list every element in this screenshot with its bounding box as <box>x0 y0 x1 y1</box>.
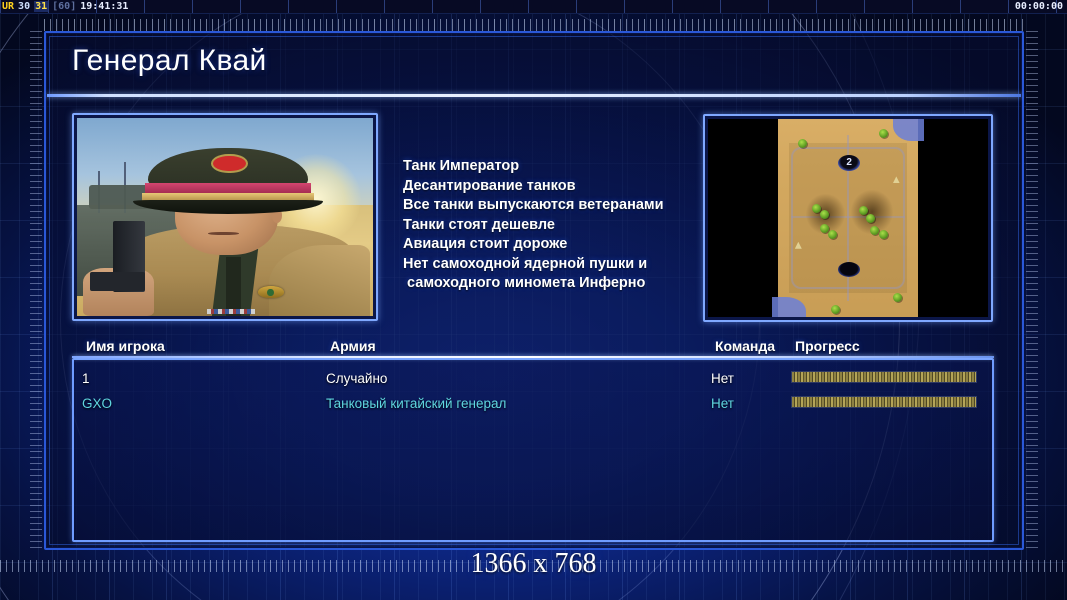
description-line: Нет самоходной ядерной пушки и <box>403 255 664 275</box>
player-name: GXO <box>82 391 112 416</box>
column-header-progress: Прогресс <box>795 338 860 354</box>
description-line: Все танки выпускаются ветеранами <box>403 196 664 216</box>
map-tree-icon <box>798 139 807 148</box>
map-tree-icon <box>893 293 902 302</box>
status-value-c: [60] <box>52 1 76 12</box>
column-header-team: Команда <box>715 338 775 354</box>
portrait-mouth <box>208 232 239 235</box>
player-name: 1 <box>82 366 90 391</box>
players-table-header-divider <box>72 356 994 358</box>
column-header-name: Имя игрока <box>86 338 165 354</box>
portrait-pistol <box>113 221 146 292</box>
portrait-wing-badge <box>258 286 284 298</box>
description-line: Танк Император <box>403 157 664 177</box>
player-progress-bar <box>791 371 977 383</box>
portrait-cap-star-icon <box>213 156 246 172</box>
general-description-list: Танк Император Десантирование танков Все… <box>403 157 664 294</box>
title-divider <box>47 94 1021 97</box>
map-tree-icon <box>879 129 888 138</box>
status-value-b: 31 <box>34 1 48 12</box>
table-row[interactable]: 1 Случайно Нет <box>74 366 992 391</box>
top-status-left: UR3031[60]19:41:31 <box>2 0 132 14</box>
map-water-top-right <box>893 119 924 141</box>
players-table-header: Имя игрока Армия Команда Прогресс <box>80 338 1000 356</box>
player-team[interactable]: Нет <box>711 366 734 391</box>
player-army[interactable]: Случайно <box>326 366 387 391</box>
top-status-grid <box>0 0 1067 13</box>
ruler-right <box>1026 31 1038 550</box>
ruler-top <box>44 19 1024 31</box>
description-line: самоходного миномета Инферно <box>403 274 664 294</box>
description-line: Танки стоят дешевле <box>403 216 664 236</box>
map-image: 2 <box>708 119 988 317</box>
status-value-a: 30 <box>18 1 30 12</box>
portrait-shoulder <box>269 245 370 316</box>
portrait-ribbon-bar <box>207 309 254 314</box>
map-tree-icon <box>879 230 888 239</box>
table-row[interactable]: GXO Танковый китайский генерал Нет <box>74 391 992 416</box>
map-terrain: 2 <box>778 119 918 317</box>
map-start-position-marker[interactable]: 2 <box>838 155 860 171</box>
game-lobby-screen: UR3031[60]19:41:31 00:00:00 Генерал Квай <box>0 0 1067 600</box>
map-tree-icon <box>820 210 829 219</box>
status-prefix: UR <box>2 1 14 12</box>
top-status-right-clock: 00:00:00 <box>1015 0 1063 14</box>
top-status-bar: UR3031[60]19:41:31 00:00:00 <box>0 0 1067 14</box>
map-preview[interactable]: 2 <box>703 114 993 322</box>
column-header-army: Армия <box>330 338 376 354</box>
resolution-label: 1366 x 768 <box>0 548 1067 580</box>
map-spawn-marker[interactable] <box>838 262 860 277</box>
player-team[interactable]: Нет <box>711 391 734 416</box>
description-line: Авиация стоит дороже <box>403 235 664 255</box>
portrait-image <box>77 118 373 316</box>
player-army[interactable]: Танковый китайский генерал <box>326 391 506 416</box>
player-progress-bar <box>791 396 977 408</box>
general-portrait <box>72 113 378 321</box>
map-tree-icon <box>812 204 821 213</box>
status-clock: 19:41:31 <box>80 1 128 12</box>
players-list-panel: 1 Случайно Нет GXO Танковый китайский ге… <box>72 358 994 542</box>
ruler-left <box>30 31 42 550</box>
description-line: Десантирование танков <box>403 177 664 197</box>
page-title: Генерал Квай <box>72 44 267 78</box>
portrait-necktie <box>226 257 241 316</box>
map-water-bottom-left <box>772 297 806 317</box>
map-tree-icon <box>831 305 840 314</box>
